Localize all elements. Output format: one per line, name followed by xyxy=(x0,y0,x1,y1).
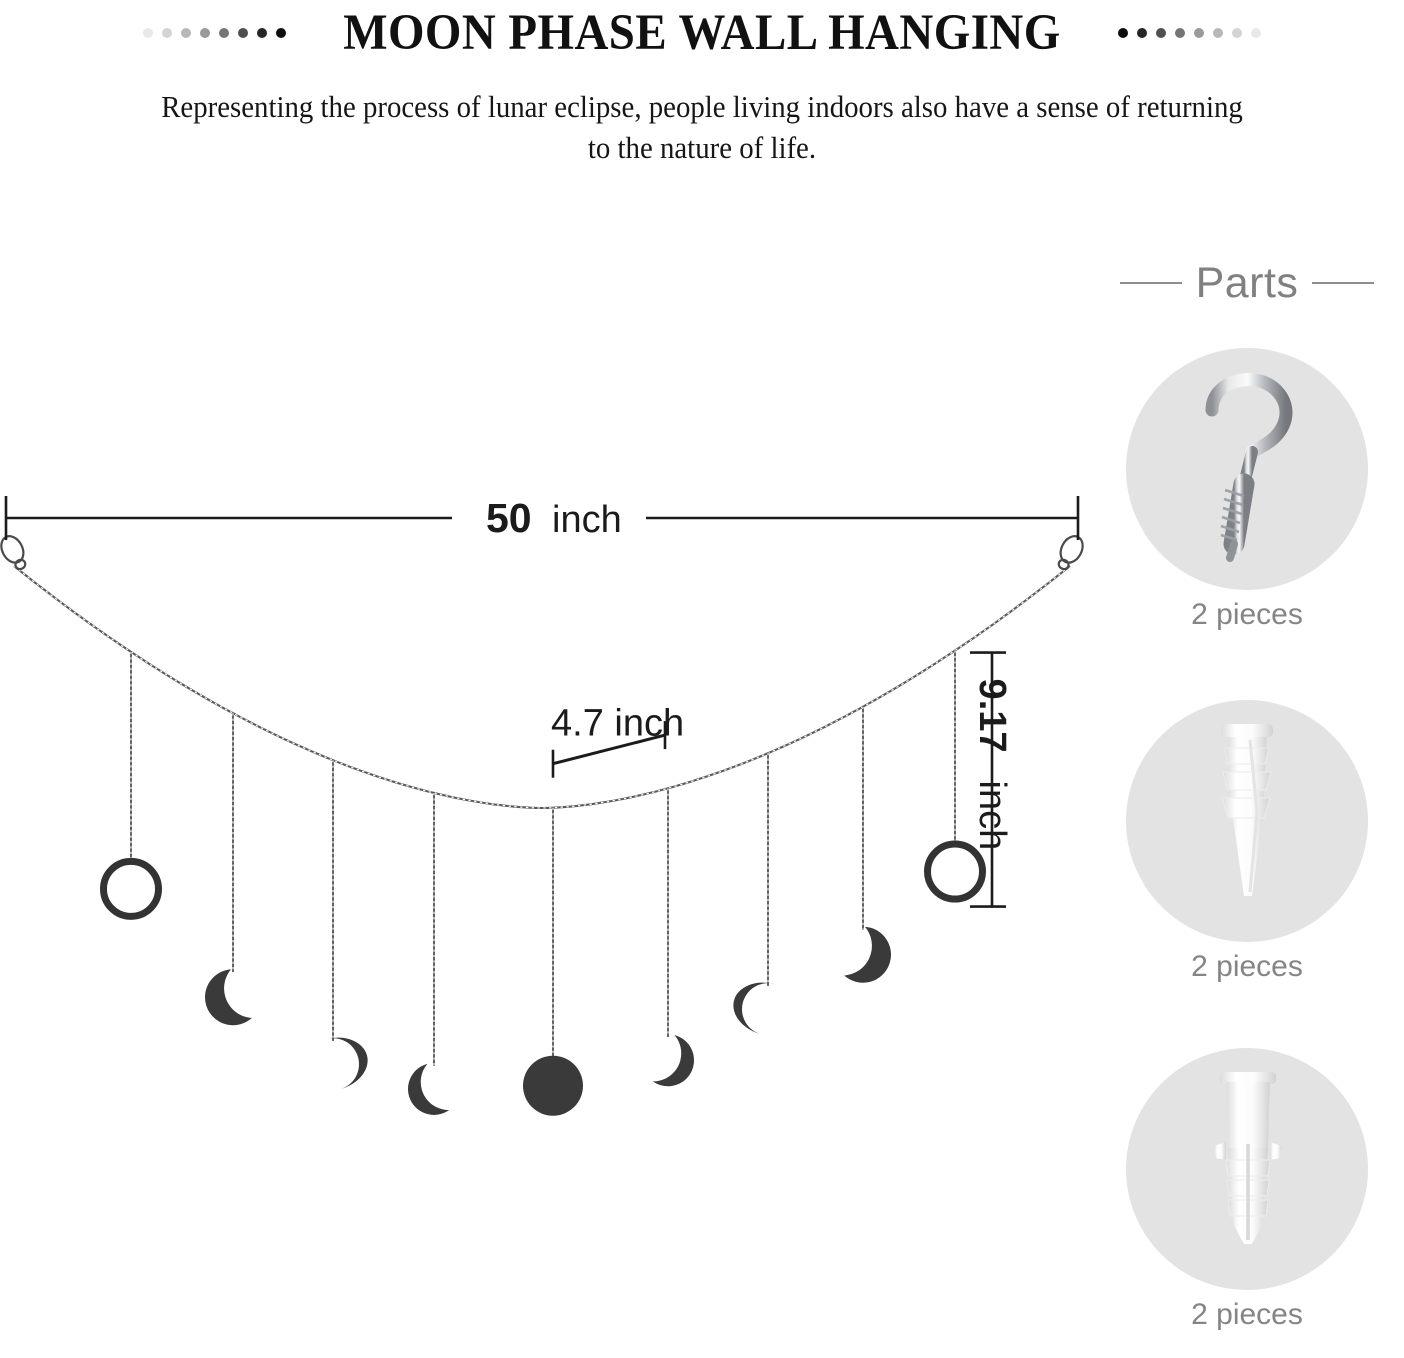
decorative-dot-5 xyxy=(238,28,248,38)
part-image-backdrop xyxy=(1126,700,1368,942)
charm-waning-crescent xyxy=(828,920,897,989)
decorative-dot-0 xyxy=(1118,28,1128,38)
drop-dimension-label: 9.17 xyxy=(971,679,1013,753)
heading-rule-right xyxy=(1312,282,1374,284)
subtitle: Representing the process of lunar eclips… xyxy=(150,86,1255,168)
parts-heading-label: Parts xyxy=(1196,259,1299,308)
charm-waning-half xyxy=(728,975,775,1034)
part-image-backdrop xyxy=(1126,348,1368,590)
parts-heading: Parts xyxy=(1090,248,1404,318)
drop-dimension: 9.17inch xyxy=(970,653,1013,907)
width-dimension: 50inch xyxy=(6,495,1078,541)
part-item-screw-hook: 2 pieces xyxy=(1090,348,1404,632)
chain-end-loop-left xyxy=(0,532,31,573)
decorative-dot-7 xyxy=(1251,28,1261,38)
heading-rule-left xyxy=(1120,282,1182,284)
charm-waxing-gibbous-crescent xyxy=(402,1057,466,1121)
decorative-dot-6 xyxy=(1232,28,1242,38)
spacing-dimension-label: 4.7 inch xyxy=(551,703,684,745)
charm-waxing-half xyxy=(327,1030,374,1089)
decorative-dots-left xyxy=(143,23,286,43)
charm-new-moon-ring xyxy=(104,861,159,916)
main-chain-links xyxy=(14,566,1070,808)
part-quantity-label: 2 pieces xyxy=(1090,598,1404,632)
decorative-dots-right xyxy=(1118,23,1261,43)
decorative-dot-0 xyxy=(143,28,153,38)
spacing-dimension: 4.7 inch xyxy=(551,703,684,778)
screw-hook-icon xyxy=(1126,348,1368,590)
part-item-expansion-plug: 2 pieces xyxy=(1090,1048,1404,1332)
width-dimension-value: 50 xyxy=(486,495,532,541)
decorative-dot-2 xyxy=(1156,28,1166,38)
decorative-dot-3 xyxy=(200,28,210,38)
drop-dimension-unit: inch xyxy=(971,781,1013,851)
charm-full-moon xyxy=(523,1056,583,1116)
header: MOON PHASE WALL HANGING Representing the… xyxy=(0,0,1404,190)
part-quantity-label: 2 pieces xyxy=(1090,1298,1404,1332)
decorative-dot-2 xyxy=(181,28,191,38)
part-image-backdrop xyxy=(1126,1048,1368,1290)
width-dimension-unit: inch xyxy=(552,499,622,541)
ribbed-wall-anchor-icon xyxy=(1126,700,1368,942)
charm-waning-gibbous-crescent xyxy=(636,1028,700,1092)
page-title: MOON PHASE WALL HANGING xyxy=(343,4,1061,62)
spacing-line xyxy=(553,735,665,764)
decorative-dot-6 xyxy=(257,28,267,38)
decorative-dot-1 xyxy=(162,28,172,38)
decorative-dot-3 xyxy=(1175,28,1185,38)
chain-end-loop-right xyxy=(1053,532,1087,573)
decorative-dot-4 xyxy=(1194,28,1204,38)
expansion-wall-plug-icon xyxy=(1126,1048,1368,1290)
title-row: MOON PHASE WALL HANGING xyxy=(0,2,1404,64)
charm-waxing-crescent xyxy=(198,963,267,1032)
charm-new-moon-ring xyxy=(928,844,983,899)
part-quantity-label: 2 pieces xyxy=(1090,950,1404,984)
decorative-dot-5 xyxy=(1213,28,1223,38)
main-chain xyxy=(14,566,1070,808)
parts-panel: Parts xyxy=(1090,248,1404,1358)
decorative-dot-4 xyxy=(219,28,229,38)
part-item-ribbed-anchor: 2 pieces xyxy=(1090,700,1404,984)
decorative-dot-1 xyxy=(1137,28,1147,38)
decorative-dot-7 xyxy=(276,28,286,38)
